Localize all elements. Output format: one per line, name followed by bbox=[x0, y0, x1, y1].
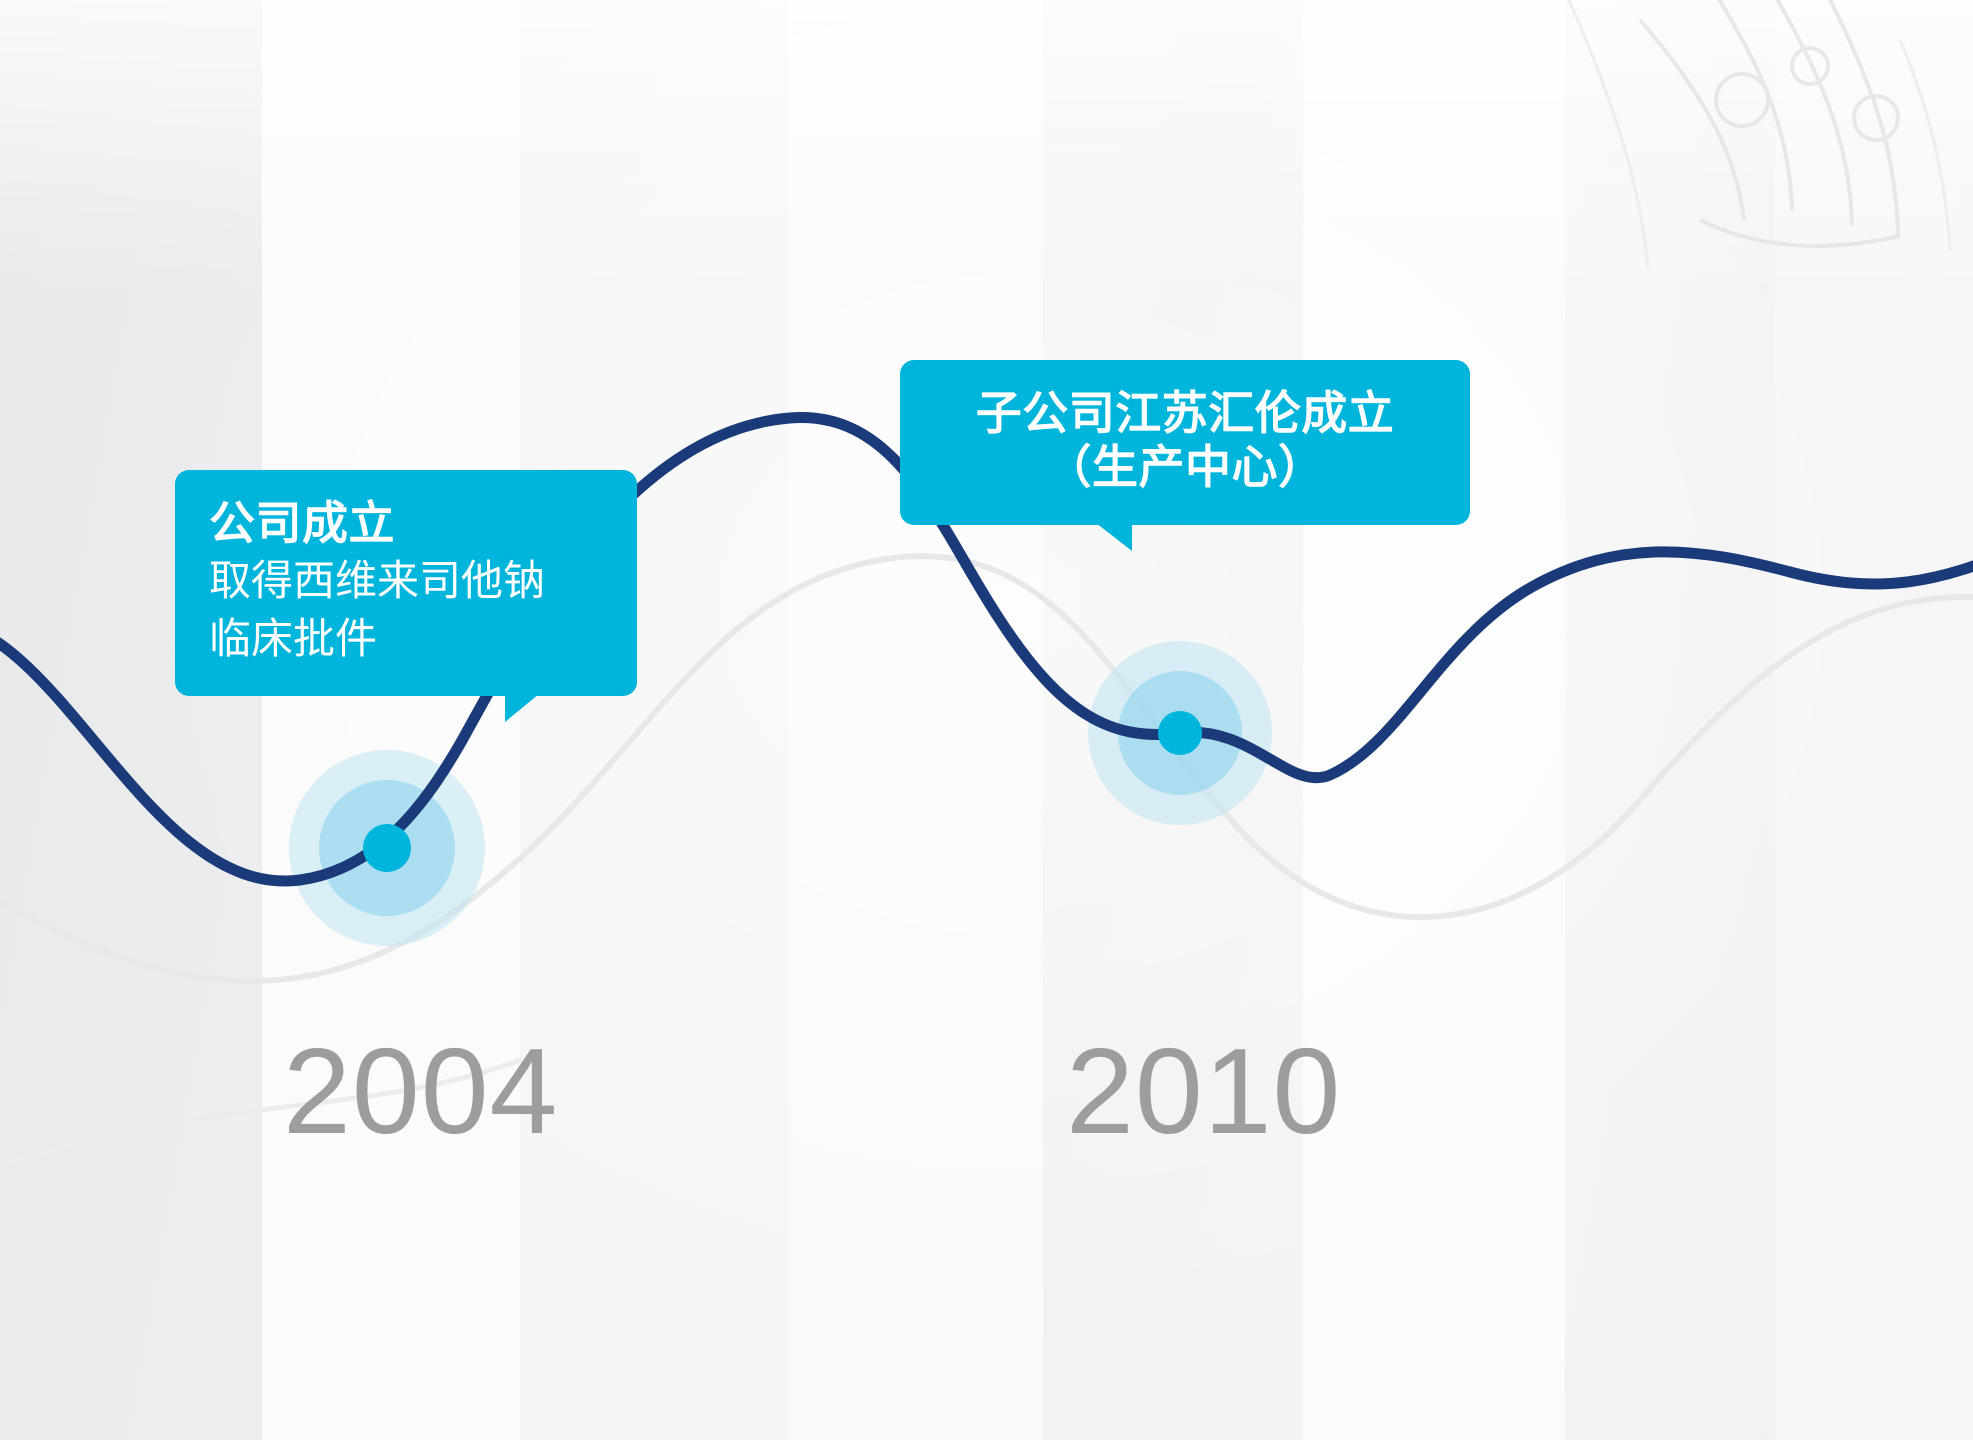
node-dots[interactable] bbox=[0, 0, 1973, 1440]
milestone-card-2004[interactable]: 公司成立 取得西维来司他钠 临床批件 bbox=[175, 470, 637, 696]
card-pointer-tail bbox=[1096, 523, 1132, 551]
timeline-canvas: 公司成立 取得西维来司他钠 临床批件 子公司江苏汇伦成立 （生产中心） 2004… bbox=[0, 0, 1973, 1440]
milestone-card-title-line-1: 子公司江苏汇伦成立 bbox=[934, 386, 1436, 440]
node-dot-2004 bbox=[363, 824, 411, 872]
milestone-card-2010[interactable]: 子公司江苏汇伦成立 （生产中心） bbox=[900, 360, 1470, 525]
card-pointer-tail bbox=[505, 694, 539, 722]
milestone-card-body-line-2: 临床批件 bbox=[209, 612, 603, 666]
node-dot-2010 bbox=[1158, 711, 1202, 755]
year-label-2004: 2004 bbox=[283, 1030, 558, 1152]
milestone-card-title: 公司成立 bbox=[209, 496, 603, 550]
milestone-card-body-line-1: 取得西维来司他钠 bbox=[209, 554, 603, 608]
year-label-2010: 2010 bbox=[1066, 1030, 1341, 1152]
milestone-card-title-line-2: （生产中心） bbox=[934, 440, 1436, 494]
